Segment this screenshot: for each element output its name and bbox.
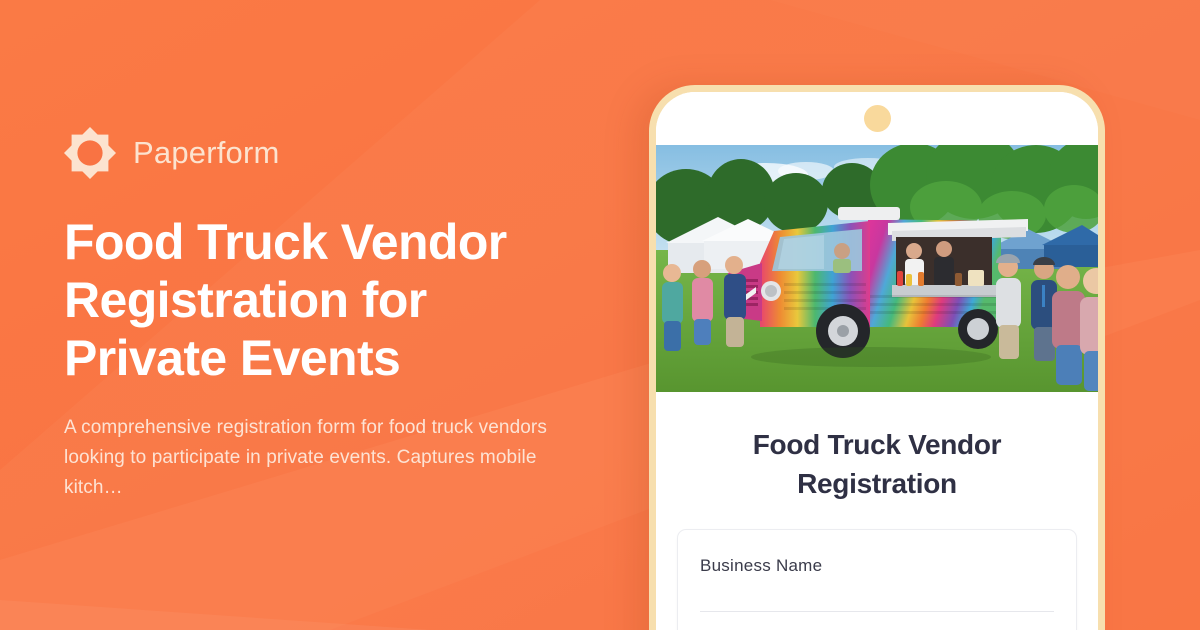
camera-dot-icon: [864, 105, 891, 132]
brand-name-text: Paperform: [133, 137, 280, 168]
food-truck-festival-illustration: [656, 145, 1098, 392]
phone-mockup: Food Truck Vendor Registration Business …: [649, 85, 1105, 630]
hero-left-column: Paperform Food Truck Vendor Registration…: [64, 0, 624, 630]
form-title: Food Truck Vendor Registration: [656, 392, 1098, 529]
brand-logo[interactable]: Paperform: [64, 127, 624, 179]
page-description: A comprehensive registration form for fo…: [64, 413, 564, 503]
page-title: Food Truck Vendor Registration for Priva…: [64, 213, 564, 387]
business-name-input[interactable]: [700, 611, 1054, 612]
form-field-card[interactable]: Business Name: [677, 529, 1077, 630]
form-hero-image: [656, 145, 1098, 392]
phone-bezel: [656, 92, 1098, 145]
paperform-star-logo-icon: [64, 127, 116, 179]
business-name-label: Business Name: [700, 556, 1054, 576]
